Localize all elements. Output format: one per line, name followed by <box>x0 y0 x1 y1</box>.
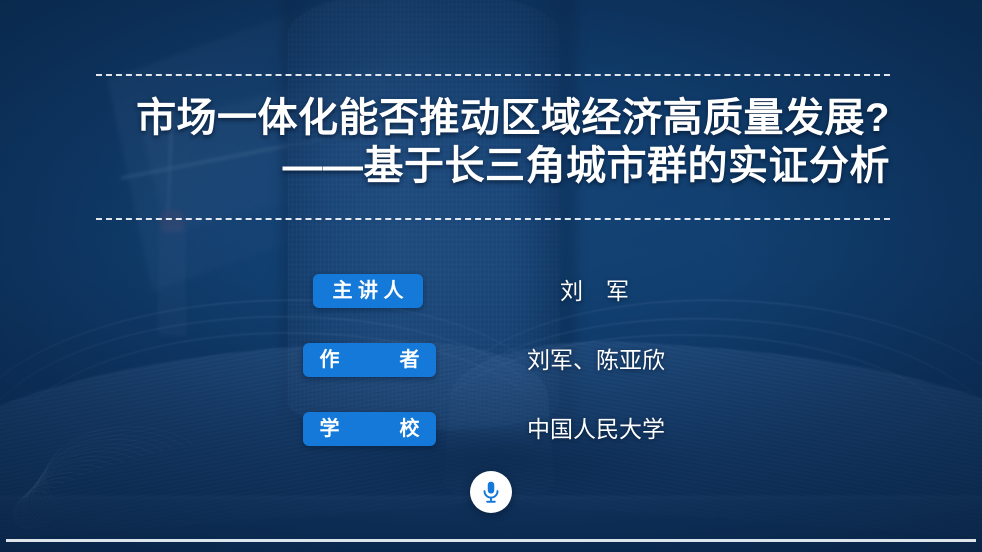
badge-speaker-label: 主 讲 人 <box>313 274 423 308</box>
slide-content: 市场一体化能否推动区域经济高质量发展? ——基于长三角城市群的实证分析 主 讲 … <box>0 0 982 552</box>
info-rows: 主 讲 人 刘 军 作 者 刘军、陈亚欣 学 校 中国人民大学 <box>0 268 982 475</box>
value-authors-names: 刘军、陈亚欣 <box>527 343 665 377</box>
slide-title: 市场一体化能否推动区域经济高质量发展? ——基于长三角城市群的实证分析 <box>96 94 890 190</box>
microphone-icon <box>478 479 504 505</box>
presentation-slide: 市场一体化能否推动区域经济高质量发展? ——基于长三角城市群的实证分析 主 讲 … <box>0 0 982 552</box>
info-row-speaker: 主 讲 人 刘 军 <box>0 268 982 337</box>
title-line-subtitle: ——基于长三角城市群的实证分析 <box>96 142 890 190</box>
title-line-main: 市场一体化能否推动区域经济高质量发展? <box>96 94 890 142</box>
badge-authors-label: 作 者 <box>303 343 436 377</box>
info-row-authors: 作 者 刘军、陈亚欣 <box>0 337 982 406</box>
info-row-school: 学 校 中国人民大学 <box>0 406 982 475</box>
badge-school-label: 学 校 <box>303 412 436 446</box>
divider-dashed-top <box>96 74 890 76</box>
bottom-accent-line <box>6 539 976 542</box>
divider-dashed-bottom <box>96 218 890 220</box>
value-speaker-name: 刘 军 <box>560 274 629 308</box>
value-school-name: 中国人民大学 <box>527 412 665 446</box>
microphone-badge <box>470 471 512 513</box>
